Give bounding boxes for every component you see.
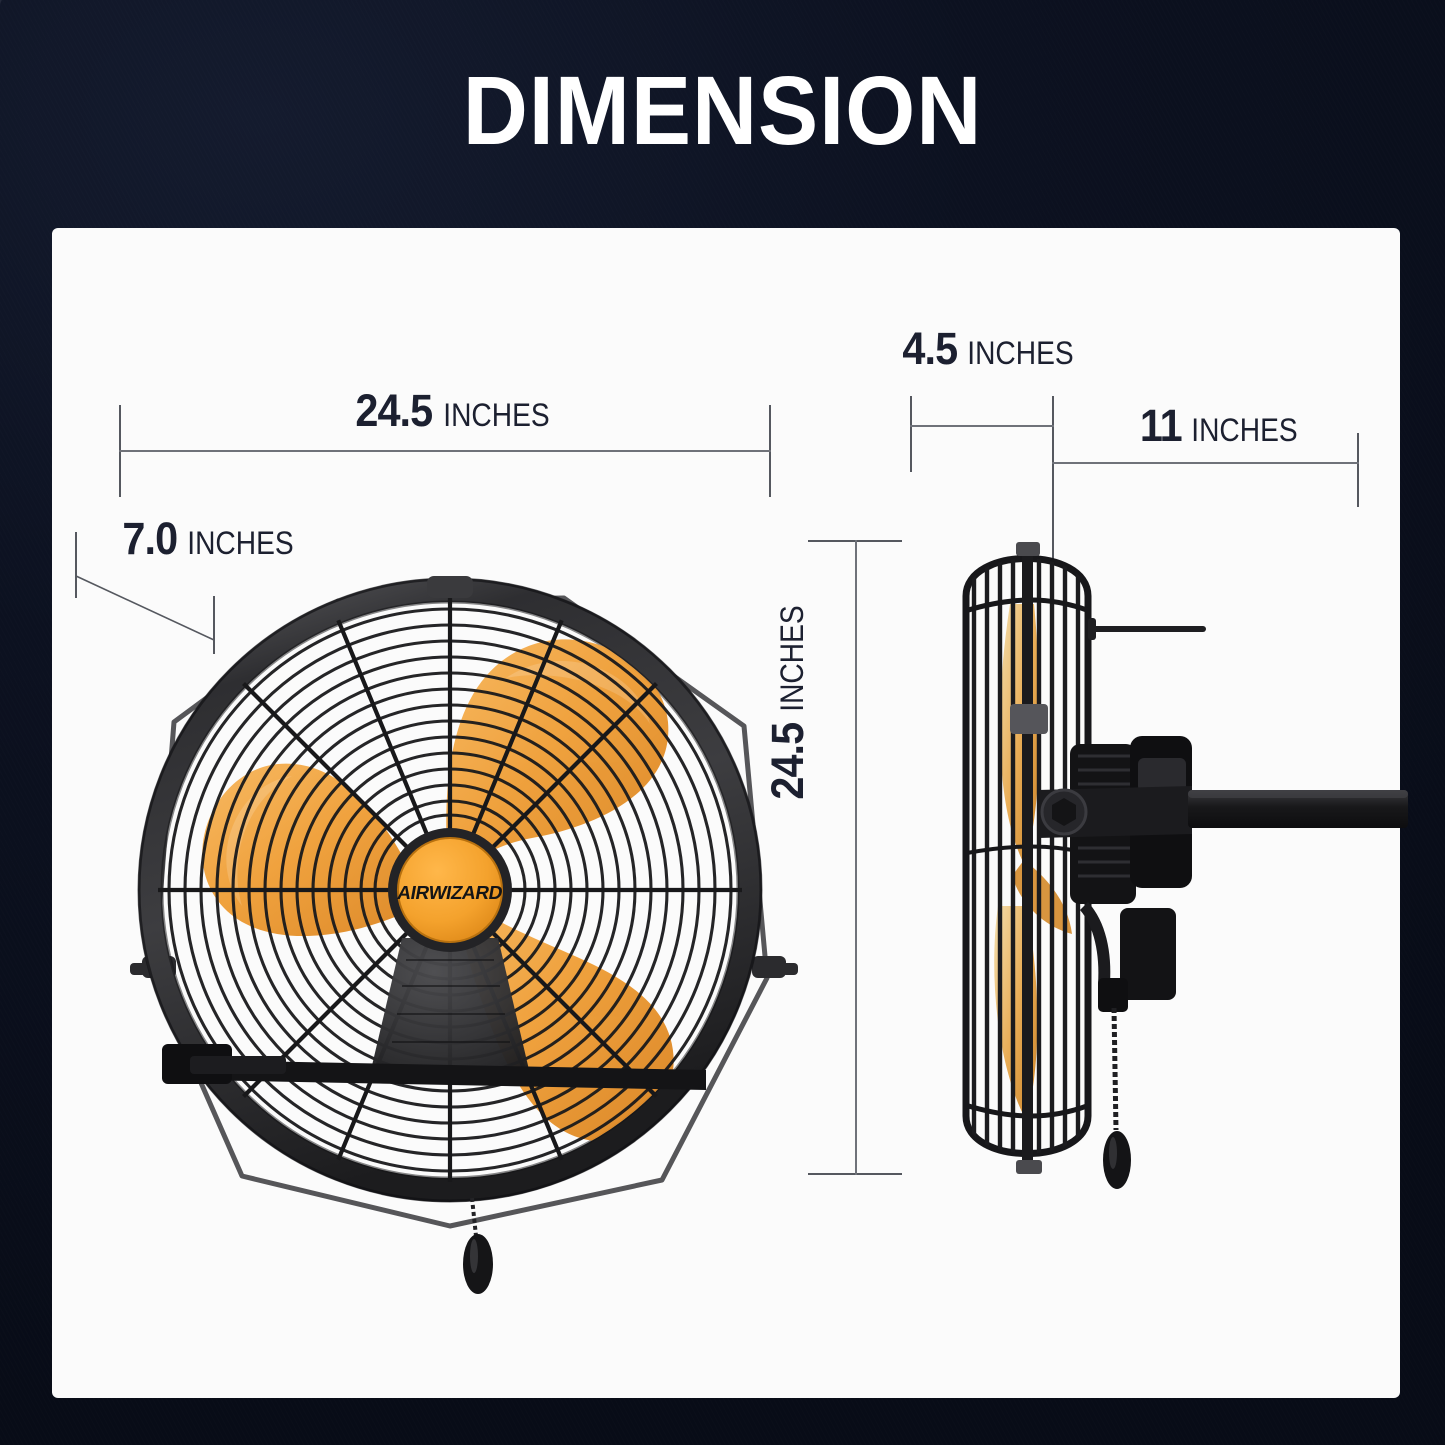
cage-depth-value: 4.5: [902, 326, 957, 371]
height-unit: INCHES: [776, 606, 808, 712]
control-box: [1080, 902, 1176, 1012]
side-pull-chain: [1103, 1008, 1131, 1189]
side-view: [892, 508, 1412, 1238]
pull-chain: [463, 1198, 493, 1294]
height-label: 24.5INCHES: [765, 599, 810, 804]
bracket-length-unit: INCHES: [1191, 414, 1297, 446]
height-dim-line: [855, 540, 857, 1175]
cage-depth-unit: INCHES: [967, 337, 1073, 369]
side-blades: [994, 604, 1072, 1120]
bracket-length-value: 11: [1140, 403, 1182, 448]
cage-depth-dim-line: [910, 425, 1054, 427]
brand-logo: AIRWIZARD: [396, 883, 505, 904]
top-handle-rod: [1088, 618, 1206, 640]
grille-latch: [427, 576, 473, 598]
page-title: DIMENSION: [51, 62, 1395, 159]
front-view: AIRWIZARD: [102, 508, 842, 1308]
height-value: 24.5: [765, 723, 810, 800]
wall-bracket-arm: [1038, 786, 1408, 838]
bracket-length-label: 11INCHES: [1138, 403, 1304, 448]
pull-chain-knob: [463, 1234, 493, 1294]
brand-logo-text: AIRWIZARD: [396, 883, 505, 904]
width-dim-value: 24.5: [355, 388, 432, 433]
cage-depth-label: 4.5INCHES: [900, 326, 1080, 371]
cage-depth-tick-left: [910, 396, 912, 472]
side-pull-chain-knob: [1103, 1131, 1131, 1189]
width-dim-label: 24.5INCHES: [352, 388, 557, 433]
width-dim-unit: INCHES: [443, 399, 549, 431]
bracket-dim-line: [1052, 462, 1359, 464]
bracket-tick-right: [1357, 433, 1359, 507]
width-dim-line: [119, 450, 771, 452]
dimension-infographic: DIMENSION 24.5INCHES 7.0INCHES: [0, 0, 1445, 1445]
diagram-card: 24.5INCHES 7.0INCHES: [52, 228, 1400, 1398]
